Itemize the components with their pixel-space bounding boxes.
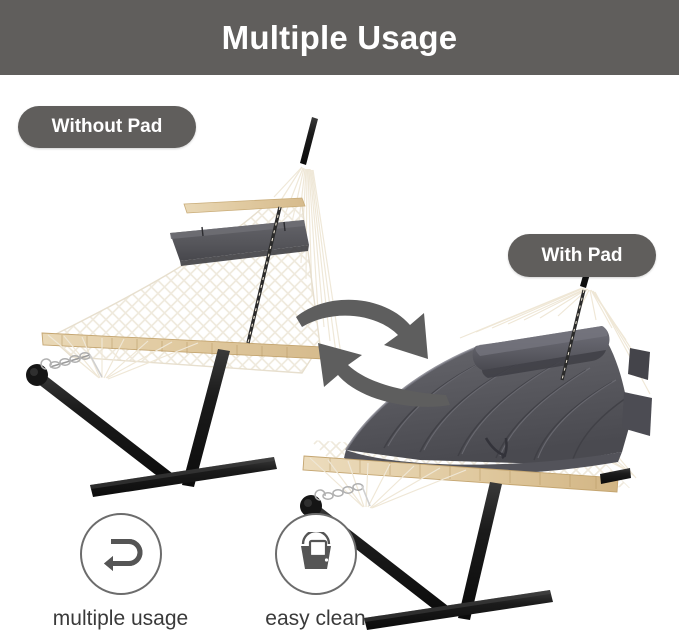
feature-easy-clean: easy clean bbox=[243, 513, 388, 629]
badge-without-pad-label: Without Pad bbox=[52, 116, 163, 138]
badge-without-pad: Without Pad bbox=[18, 106, 196, 148]
curved-arrow-left-up-icon bbox=[318, 343, 450, 407]
feature-icon-circle bbox=[80, 513, 162, 595]
feature-label-easy-clean: easy clean bbox=[265, 608, 365, 629]
product-infographic: Multiple Usage bbox=[0, 0, 679, 638]
feature-multiple-usage: multiple usage bbox=[48, 513, 193, 629]
cycle-arrows bbox=[288, 285, 458, 415]
repeat-loop-icon bbox=[98, 531, 144, 577]
badge-with-pad-label: With Pad bbox=[541, 245, 622, 267]
page-title: Multiple Usage bbox=[222, 21, 458, 54]
header-banner: Multiple Usage bbox=[0, 0, 679, 75]
feature-icon-circle bbox=[275, 513, 357, 595]
feature-label-multiple-usage: multiple usage bbox=[53, 608, 188, 629]
feature-row: multiple usage easy clean bbox=[48, 513, 388, 629]
badge-with-pad: With Pad bbox=[508, 234, 656, 277]
product-stage: Without Pad With Pad multiple usage bbox=[0, 75, 679, 638]
bucket-clean-icon bbox=[294, 532, 338, 576]
curved-arrow-right-down-icon bbox=[296, 300, 428, 359]
